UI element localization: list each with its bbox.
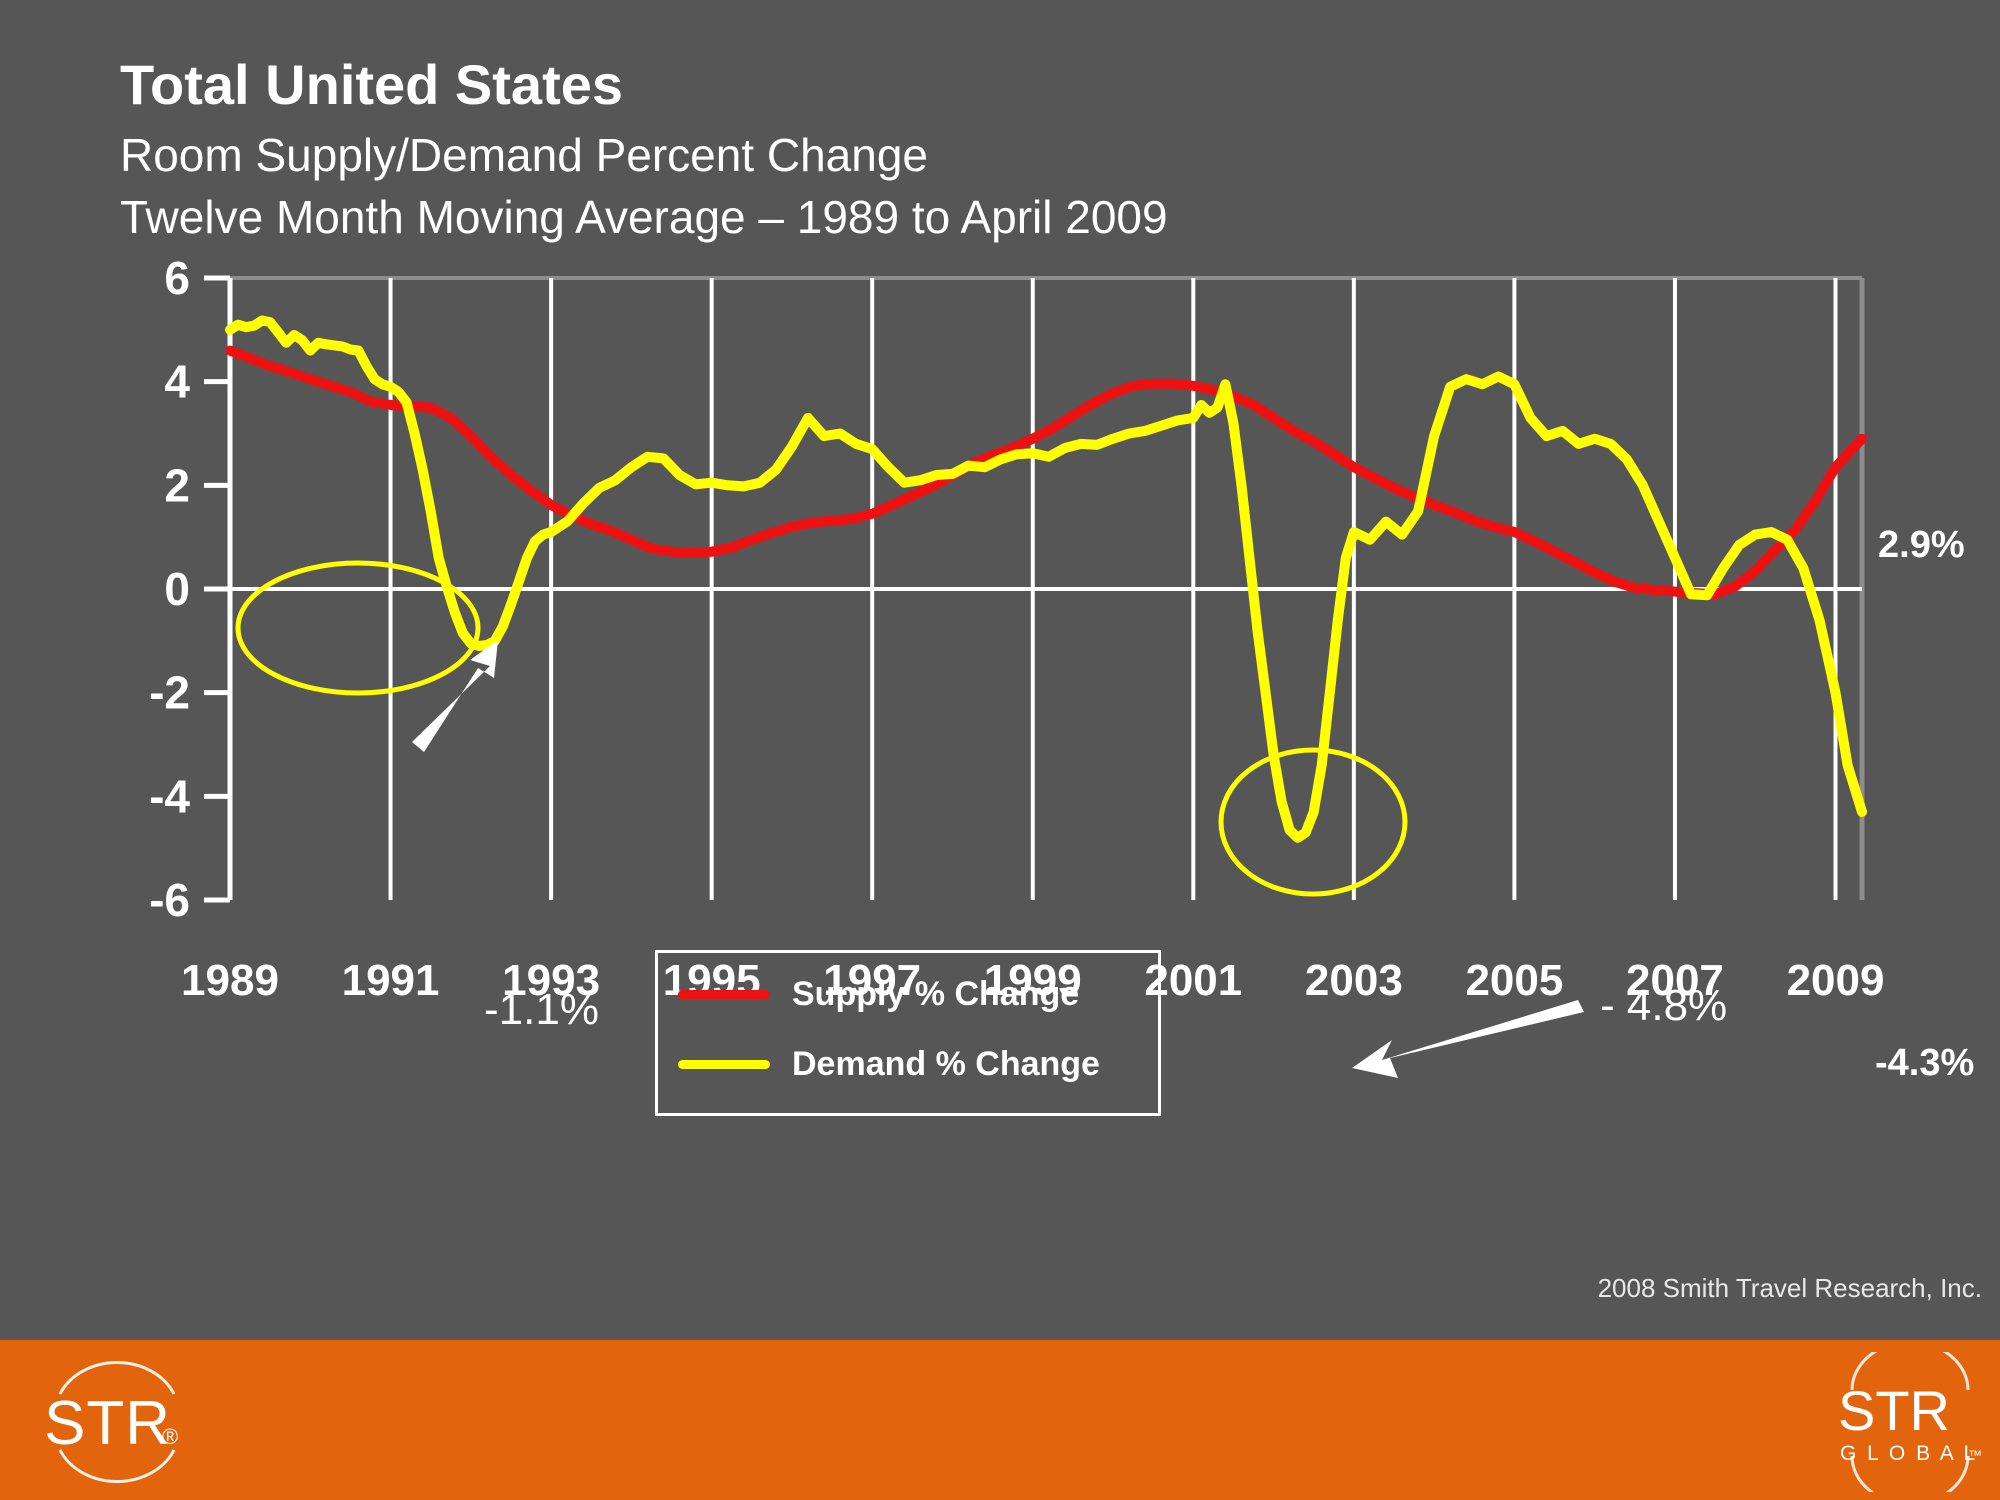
str-logo-right-trademark: ™ — [1968, 1447, 1982, 1463]
y-tick-6: 6 — [164, 252, 190, 304]
x-tick-1989: 1989 — [181, 956, 279, 1005]
y-tick-0: 0 — [164, 563, 190, 615]
str-logo-right-text: STR — [1838, 1379, 1950, 1442]
trough-1991-label: -1.1% — [484, 985, 599, 1035]
str-logo-left-registered: ® — [162, 1424, 178, 1449]
x-tick-2003: 2003 — [1305, 956, 1403, 1005]
str-logo-left-text: STR — [44, 1389, 171, 1458]
demand-end-label: -4.3% — [1875, 1042, 1974, 1085]
brand-footer — [0, 1340, 2000, 1500]
ellipse-1991 — [238, 563, 478, 693]
chart-legend: Supply % Change Demand % Change — [655, 950, 1161, 1116]
arrow-1991 — [412, 640, 498, 752]
x-tick-2009: 2009 — [1787, 956, 1885, 1005]
data-series — [230, 321, 1862, 838]
str-logo-right: STR G L O B A L ™ — [1822, 1352, 1998, 1492]
y-tick--2: -2 — [149, 667, 190, 719]
y-tick--6: -6 — [149, 874, 190, 926]
x-tick-2005: 2005 — [1465, 956, 1563, 1005]
supply-end-label: 2.9% — [1878, 524, 1965, 567]
gridlines — [230, 278, 1862, 900]
str-logo-left: STR ® — [22, 1352, 212, 1492]
legend-swatch-supply — [678, 990, 770, 999]
str-logo-right-subtext: G L O B A L — [1840, 1442, 1978, 1465]
arrow-2002 — [1352, 1000, 1584, 1078]
copyright-credit: 2008 Smith Travel Research, Inc. — [1598, 1273, 1982, 1304]
legend-label-supply: Supply % Change — [792, 975, 1079, 1014]
legend-label-demand: Demand % Change — [792, 1045, 1100, 1084]
tick-labels: 6420-2-4-6198919911993199519971999200120… — [149, 252, 1884, 1005]
legend-item-demand: Demand % Change — [678, 1045, 1100, 1084]
y-tick-2: 2 — [164, 459, 190, 511]
y-tick-4: 4 — [164, 356, 190, 408]
x-tick-1991: 1991 — [342, 956, 440, 1005]
legend-item-supply: Supply % Change — [678, 975, 1079, 1014]
series-line-supply — [230, 351, 1862, 595]
trough-2002-label: - 4.8% — [1600, 981, 1727, 1031]
y-tick--4: -4 — [149, 770, 190, 822]
axes — [204, 278, 230, 900]
slide-root: Total United States Room Supply/Demand P… — [0, 0, 2000, 1500]
legend-swatch-demand — [678, 1060, 770, 1069]
